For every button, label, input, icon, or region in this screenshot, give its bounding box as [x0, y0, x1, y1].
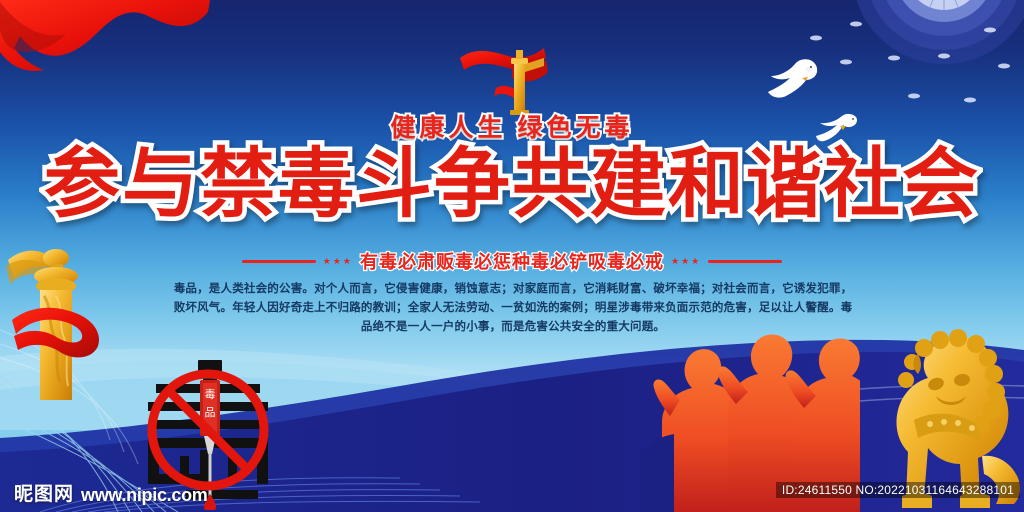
huabiao-column-decoration [0, 242, 114, 407]
stars-right: ★★★ [671, 257, 701, 266]
slogan-text: 有毒必肃贩毒必惩种毒必铲吸毒必戒 [360, 248, 664, 274]
syringe-label-char2: 品 [205, 406, 216, 419]
watermark-url: www.nipic.com [81, 485, 207, 506]
title-part-2: 共建和谐社会 [512, 146, 980, 222]
slogan-rule-right [708, 260, 782, 263]
starburst-rings-decoration [794, 0, 1024, 120]
image-id-label: ID:24611550 NO:20221031164643288101 [776, 482, 1020, 498]
syringe-label-char1: 毒 [205, 388, 216, 401]
stars-left: ★★★ [323, 257, 353, 266]
slogan-row: ★★★ 有毒必肃贩毒必惩种毒必铲吸毒必戒 ★★★ [0, 248, 1024, 274]
title-part-1: 参与禁毒斗争 [44, 146, 512, 222]
watermark: 昵图网 www.nipic.com [14, 479, 207, 506]
slogan-rule-left [242, 260, 316, 263]
watermark-site-name: 昵图网 [14, 479, 74, 506]
poster-canvas: 健康人生 绿色无毒 参与禁毒斗争共建和谐社会 ★★★ 有毒必肃贩毒必惩种毒必铲吸… [0, 0, 1024, 512]
dove-icon [762, 58, 824, 104]
poster-title: 参与禁毒斗争共建和谐社会 [0, 146, 1024, 222]
body-paragraph: 毒品，是人类社会的公害。对个人而言，它侵害健康，销蚀意志；对家庭而言，它消耗财富… [168, 280, 858, 337]
red-flag-decoration [0, 0, 210, 95]
